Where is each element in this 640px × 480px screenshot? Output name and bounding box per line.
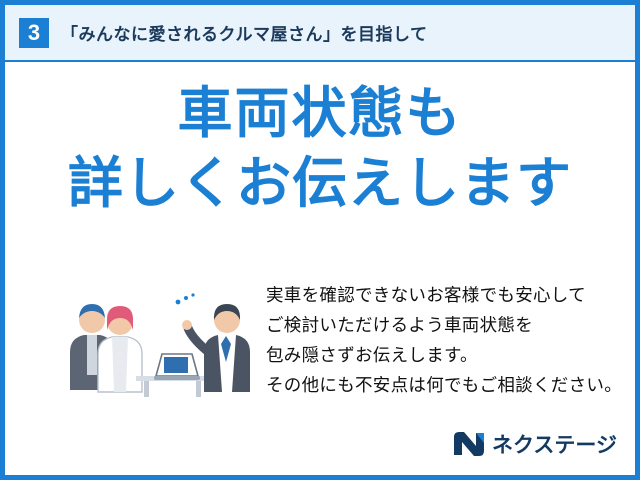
staff-and-customers-illustration — [60, 280, 260, 400]
headline-line-2: 詳しくお伝えします — [5, 146, 635, 220]
poster: 3 「みんなに愛されるクルマ屋さん」を目指して 車両状態も 詳しくお伝えします — [0, 0, 640, 480]
n-logo-icon — [452, 431, 486, 457]
brand-name: ネクステージ — [492, 429, 617, 459]
header-title: 「みんなに愛されるクルマ屋さん」を目指して — [61, 20, 427, 45]
description-line-4: その他にも不安点は何でもご相談ください。 — [266, 370, 622, 400]
description-line-1: 実車を確認できないお客様でも安心して — [266, 280, 622, 310]
brand-footer: ネクステージ — [452, 429, 617, 459]
headline-line-1: 車両状態も — [5, 80, 635, 146]
body-section: 実車を確認できないお客様でも安心して ご検討いただけるよう車両状態を 包み隠さず… — [5, 280, 635, 410]
headline: 車両状態も 詳しくお伝えします — [5, 80, 635, 220]
badge-number: 3 — [19, 18, 49, 48]
header-bar: 3 「みんなに愛されるクルマ屋さん」を目指して — [5, 5, 635, 62]
description-line-3: 包み隠さずお伝えします。 — [266, 340, 622, 370]
description-line-2: ご検討いただけるよう車両状態を — [266, 310, 622, 340]
description-text: 実車を確認できないお客様でも安心して ご検討いただけるよう車両状態を 包み隠さず… — [266, 280, 622, 400]
